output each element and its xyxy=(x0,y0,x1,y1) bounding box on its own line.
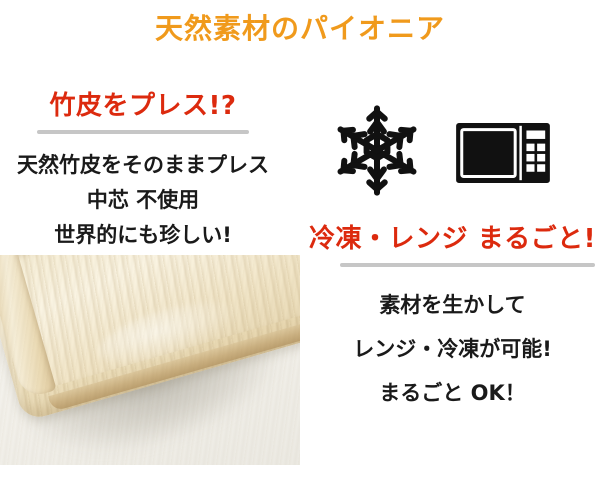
microwave-icon xyxy=(456,123,550,183)
left-heading-divider xyxy=(37,130,249,134)
right-body-line-2: レンジ・冷凍が可能! xyxy=(305,327,600,371)
right-body-line-3: まるごと OK！ xyxy=(305,371,600,415)
snowflake-icon xyxy=(334,103,420,198)
left-body-line-1: 天然竹皮をそのままプレス xyxy=(0,148,286,183)
right-heading-divider xyxy=(340,263,595,267)
left-section-body: 天然竹皮をそのままプレス 中芯 不使用 世界的にも珍しい! xyxy=(0,148,286,253)
page-title: 天然素材のパイオニア xyxy=(0,12,600,46)
feature-icon-row xyxy=(320,100,590,200)
promo-banner: 天然素材のパイオニア 竹皮をプレス!? 天然竹皮をそのままプレス 中芯 不使用 … xyxy=(0,0,600,480)
right-section-heading: 冷凍・レンジ まるごと! xyxy=(305,223,600,255)
right-body-line-1: 素材を生かして xyxy=(305,283,600,327)
left-body-line-2: 中芯 不使用 xyxy=(0,183,286,218)
bamboo-tray-photo xyxy=(0,255,300,465)
left-section-heading: 竹皮をプレス!? xyxy=(0,90,286,122)
right-section-body: 素材を生かして レンジ・冷凍が可能! まるごと OK！ xyxy=(305,283,600,415)
left-body-line-3: 世界的にも珍しい! xyxy=(0,218,286,253)
